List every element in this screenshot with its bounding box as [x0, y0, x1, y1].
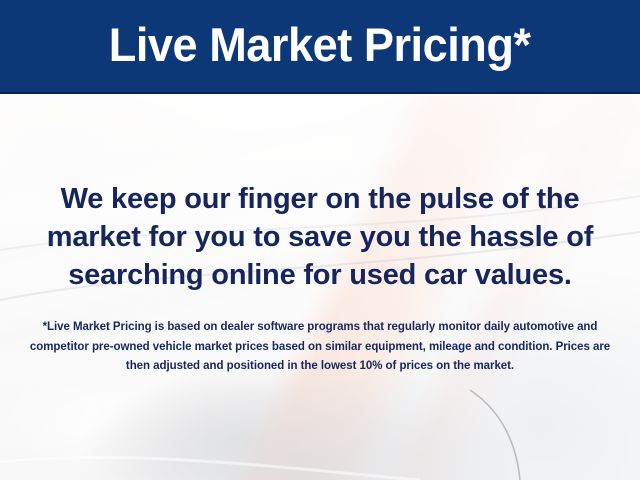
- header-band: Live Market Pricing*: [0, 0, 640, 94]
- disclaimer-text: *Live Market Pricing is based on dealer …: [22, 318, 618, 377]
- headline-text: We keep our finger on the pulse of the m…: [22, 180, 618, 294]
- page-title: Live Market Pricing*: [109, 21, 531, 72]
- live-market-pricing-banner: Live Market Pricing* We keep our finger …: [0, 0, 640, 480]
- content-area: We keep our finger on the pulse of the m…: [0, 96, 640, 480]
